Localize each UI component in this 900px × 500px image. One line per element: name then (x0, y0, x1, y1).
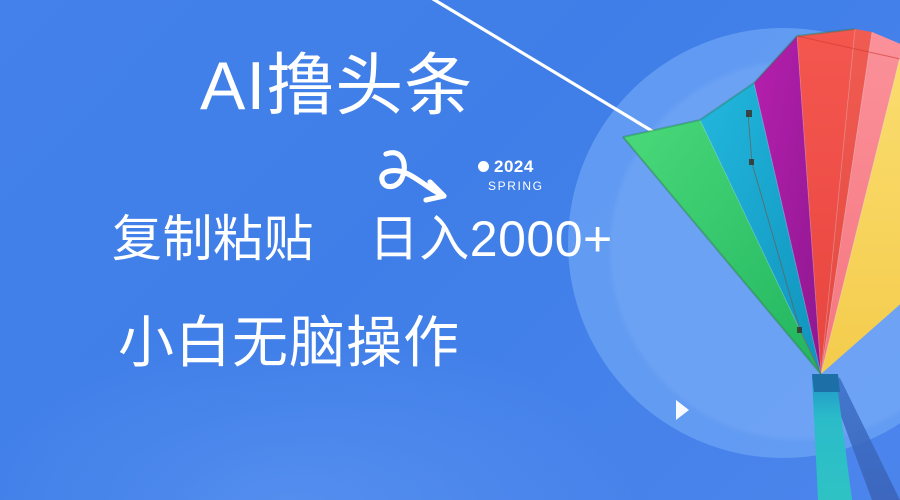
page-title: AI撸头条 (200, 48, 473, 124)
year-row: 2024 (478, 158, 544, 175)
tagline: 小白无脑操作 (118, 312, 460, 374)
play-triangle-icon (676, 400, 689, 420)
dot-icon (478, 161, 489, 172)
subheading-left: 复制粘贴 (112, 211, 314, 267)
year-number: 2024 (494, 158, 534, 175)
year-season: SPRING (488, 180, 544, 192)
poster-canvas: AI撸头条 2024 SPRING 复制粘贴 日入2000+ 小白无脑操作 (0, 0, 900, 500)
subheading-right: 日入2000+ (369, 211, 613, 267)
year-badge: 2024 SPRING (478, 158, 544, 192)
curly-arrow-icon (372, 142, 468, 208)
subheading: 复制粘贴 日入2000+ (112, 212, 613, 267)
